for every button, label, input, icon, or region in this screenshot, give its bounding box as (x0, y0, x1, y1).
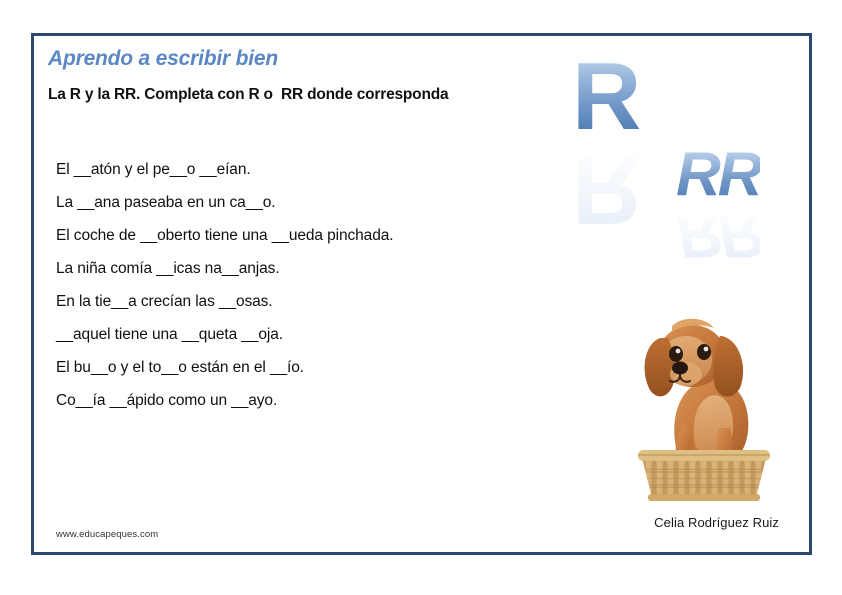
wordart-letter-rr-reflection: RR (676, 204, 760, 266)
wordart-letter-rr: RR (676, 144, 760, 206)
exercise-list: El __atón y el pe__o __eían. La __ana pa… (56, 153, 576, 417)
exercise-line: En la tie__a crecían las __osas. (56, 285, 576, 318)
exercise-line: La __ana paseaba en un ca__o. (56, 186, 576, 219)
page-title: Aprendo a escribir bien (48, 47, 278, 71)
exercise-line: El bu__o y el to__o están en el __ío. (56, 351, 576, 384)
author-credit: Celia Rodríguez Ruiz (654, 515, 779, 530)
exercise-line: __aquel tiene una __queta __oja. (56, 318, 576, 351)
exercise-line: Co__ía __ápido como un __ayo. (56, 384, 576, 417)
worksheet-frame: Aprendo a escribir bien La R y la RR. Co… (31, 33, 812, 555)
wordart-letter-r-reflection: R (572, 142, 641, 238)
puppy-in-basket-photo (624, 298, 784, 508)
page-subtitle-instruction: La R y la RR. Completa con R o RR donde … (48, 86, 448, 104)
wordart-letter-r: R (572, 49, 641, 145)
exercise-line: La niña comía __icas na__anjas. (56, 252, 576, 285)
site-url-footer: www.educapeques.com (56, 529, 158, 540)
exercise-line: El __atón y el pe__o __eían. (56, 153, 576, 186)
exercise-line: El coche de __oberto tiene una __ueda pi… (56, 219, 576, 252)
